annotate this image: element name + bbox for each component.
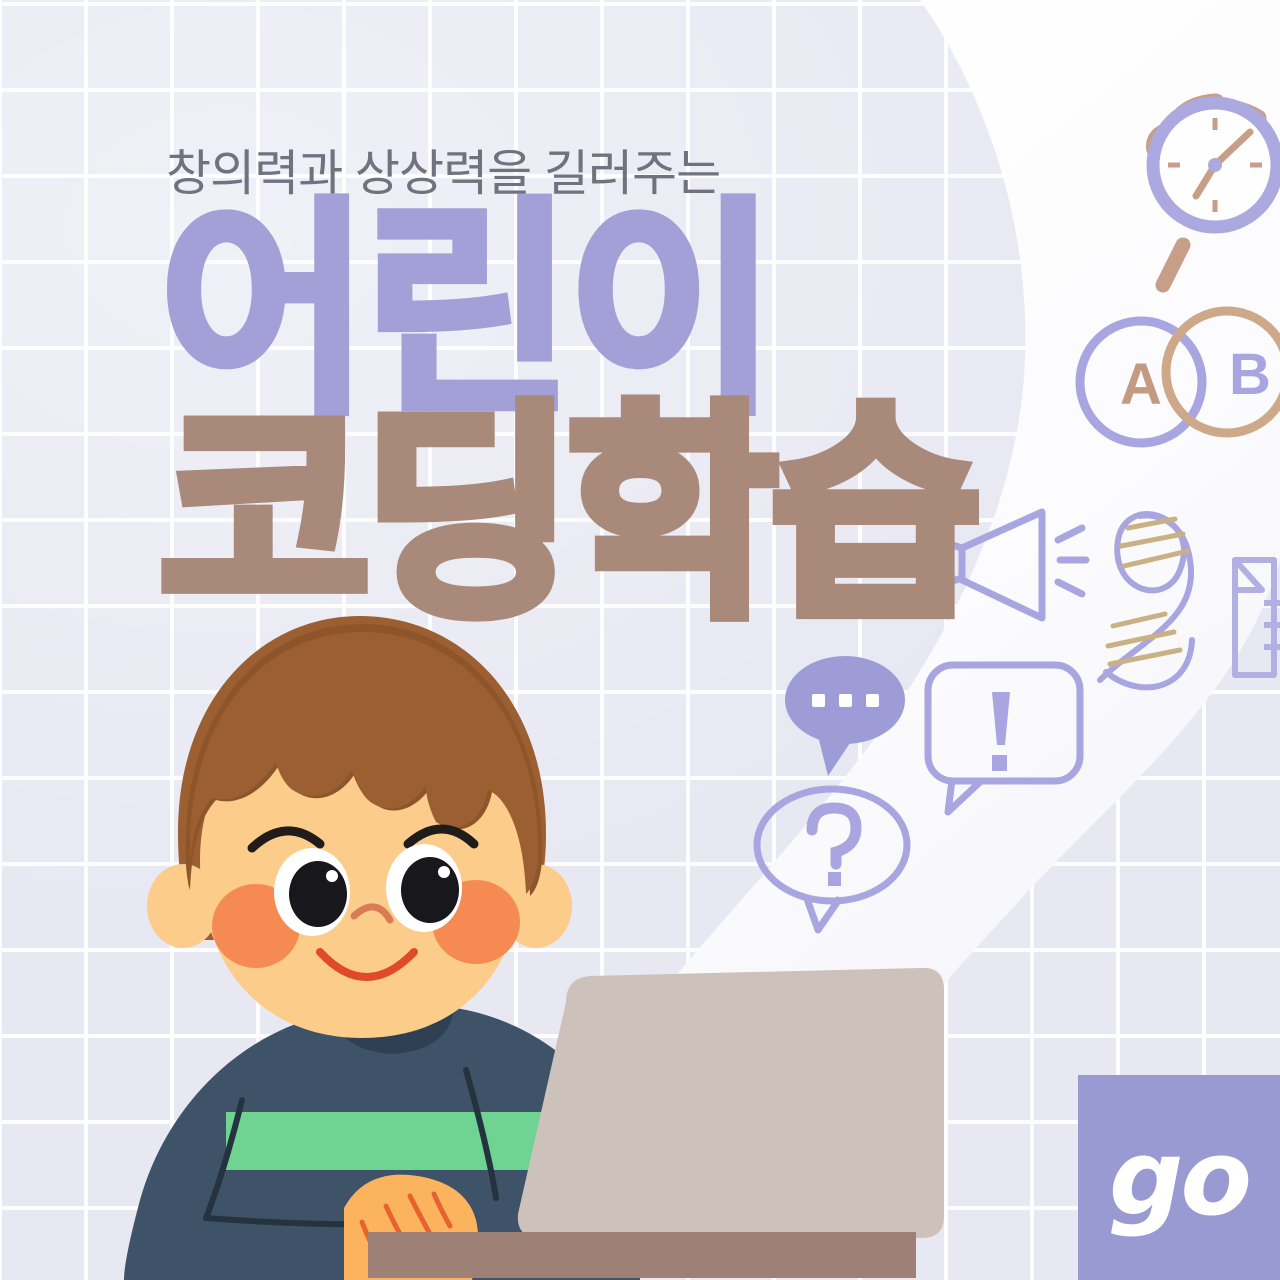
poster-canvas: A B (0, 0, 1280, 1280)
headline-line2: 코딩학습 (160, 402, 975, 630)
go-logo-tile[interactable]: go (1078, 1075, 1280, 1280)
go-logo-text: go (1078, 1126, 1280, 1230)
